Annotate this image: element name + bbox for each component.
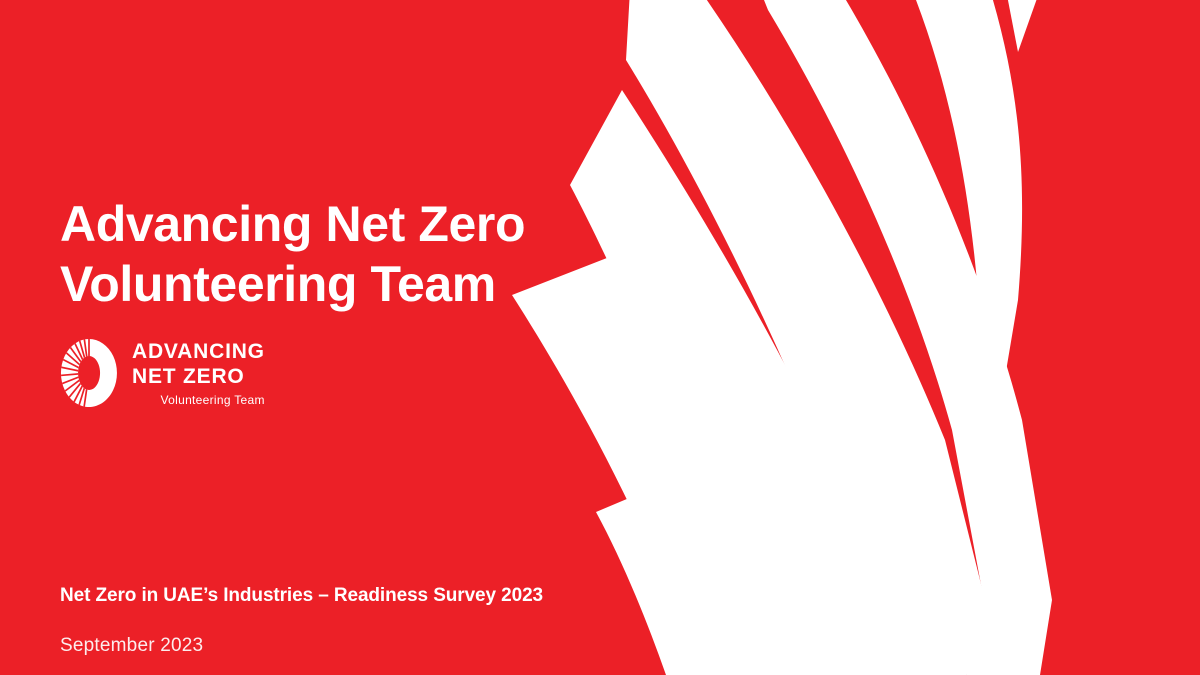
- page-title: Advancing Net Zero Volunteering Team: [60, 194, 525, 314]
- slide-date: September 2023: [60, 635, 203, 657]
- logo-subtitle-volunteering-team: Volunteering Team: [161, 394, 265, 406]
- logo-word-net-zero: NET ZERO: [132, 366, 245, 387]
- logo-wordmark: ADVANCING NET ZERO Volunteering Team: [132, 341, 265, 406]
- logo-word-advancing: ADVANCING: [132, 341, 265, 362]
- title-slide: Advancing Net Zero Volunteering Team: [0, 0, 1200, 675]
- slide-subtitle: Net Zero in UAE’s Industries – Readiness…: [60, 585, 543, 607]
- advancing-net-zero-logo: ADVANCING NET ZERO Volunteering Team: [58, 336, 265, 410]
- advancing-net-zero-ring-mark: [58, 336, 120, 410]
- title-line-1: Advancing Net Zero: [60, 194, 525, 254]
- title-line-2: Volunteering Team: [60, 254, 525, 314]
